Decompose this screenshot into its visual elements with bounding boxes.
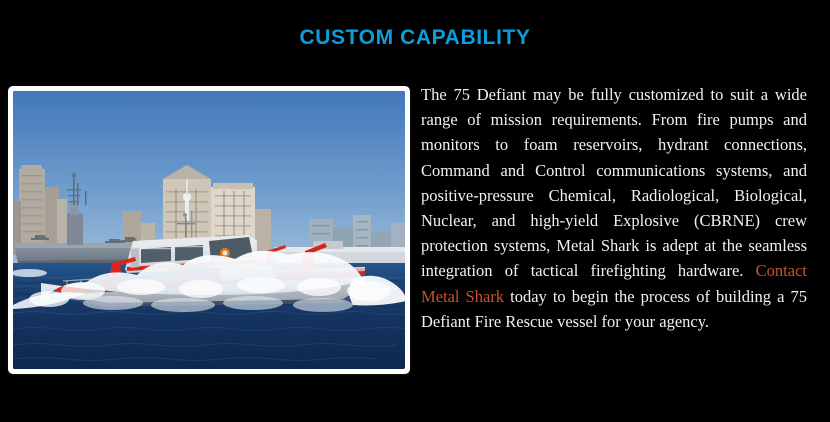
description-text-before-link: The 75 Defiant may be fully customized t… — [421, 85, 807, 280]
page-root: CUSTOM CAPABILITY — [0, 0, 830, 422]
description-paragraph: The 75 Defiant may be fully customized t… — [421, 82, 807, 334]
photo-boat — [13, 91, 405, 369]
description-column: The 75 Defiant may be fully customized t… — [421, 82, 807, 334]
content-row: The 75 Defiant may be fully customized t… — [0, 82, 830, 382]
photo-frame — [8, 86, 410, 374]
boat-photo-illustration — [13, 91, 405, 369]
page-title: CUSTOM CAPABILITY — [0, 26, 830, 50]
